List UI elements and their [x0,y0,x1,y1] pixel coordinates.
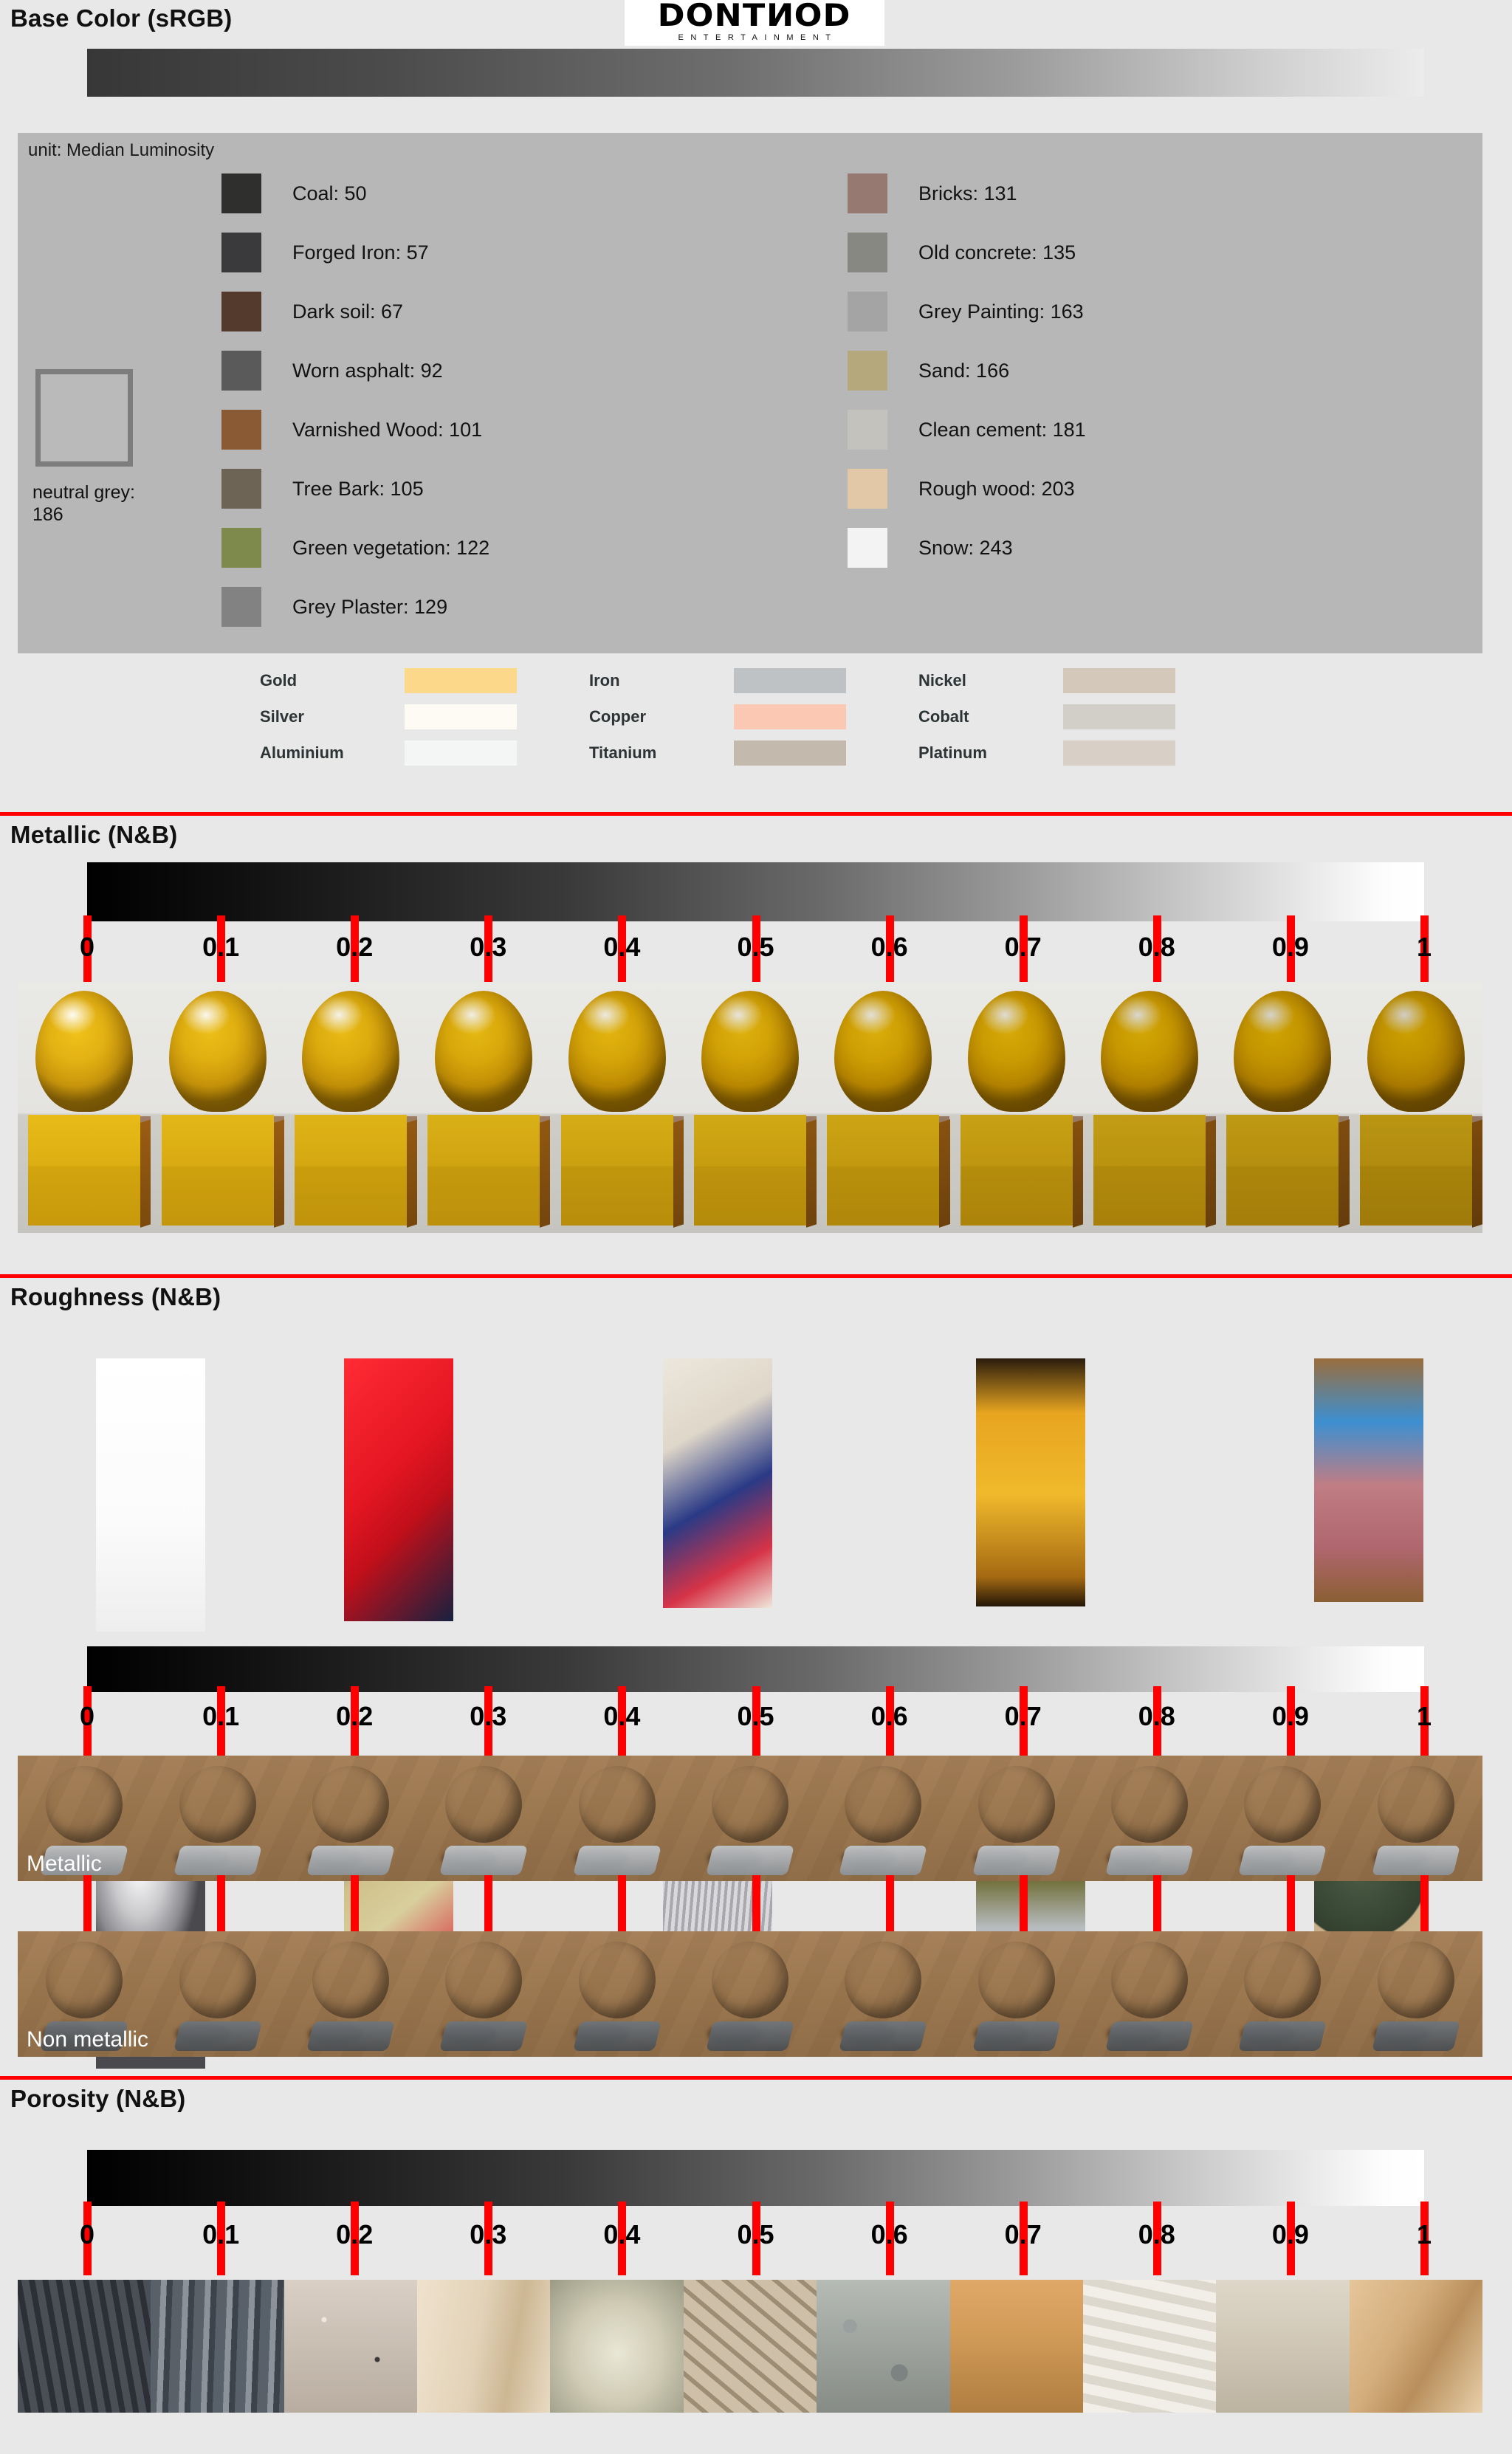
section-title-metallic: Metallic (N&B) [10,821,178,849]
base-color-swatch-row: Rough wood: 203 [848,459,1086,518]
base-color-swatch-label: Rough wood: 203 [918,478,1075,501]
metallic-sphere [968,991,1065,1112]
scale-tick-label: 0.9 [1272,932,1309,963]
scale-tick-label: 0.8 [1138,1701,1175,1732]
sphere-plate [306,1846,395,1875]
color-chip [848,410,887,450]
neutral-grey-swatch [35,369,133,467]
scale-tick [1020,1875,1028,1939]
base-color-swatch-label: Grey Painting: 163 [918,300,1084,323]
roughness-sphere [579,1942,656,2018]
scale-tick [752,1875,760,1939]
scale-tick-label: 1 [1417,932,1432,963]
base-color-swatch-row: Worn asphalt: 92 [221,341,489,400]
base-color-column-left: Coal: 50Forged Iron: 57Dark soil: 67Worn… [221,164,489,636]
metal-color-chip [405,668,517,693]
porosity-photo-white-sand-dune [1083,2280,1216,2413]
sphere-plate [1372,1846,1460,1875]
base-color-swatch-row: Coal: 50 [221,164,489,223]
scale-tick-label: 0.4 [603,1701,640,1732]
roughness-sphere [445,1942,522,2018]
roughness-sphere [445,1766,522,1843]
sphere-plate [1105,2021,1194,2051]
sphere-plate [439,2021,528,2051]
porosity-render-strip [18,2280,1482,2413]
roughness-nonmetallic-sample [1216,1931,1349,2057]
sphere-plate [1238,1846,1327,1875]
metal-color-chip [734,740,846,766]
metallic-sphere [169,991,267,1112]
base-color-swatch-row: Forged Iron: 57 [221,223,489,282]
metallic-sphere [701,991,799,1112]
metallic-cube [1093,1115,1206,1226]
metal-row: Platinum [918,740,1175,766]
section-title-base-color: Base Color (sRGB) [10,4,232,32]
scale-tick-label: 0.8 [1138,932,1175,963]
base-color-swatch-label: Worn asphalt: 92 [292,360,443,382]
roughness-metallic-sample [1216,1756,1349,1881]
metallic-cube [961,1115,1073,1226]
neutral-grey-value: 186 [32,504,63,525]
scale-tick-label: 0 [80,932,94,963]
roughness-sphere [46,1766,123,1843]
base-color-swatch-row: Varnished Wood: 101 [221,400,489,459]
scale-tick [618,1875,626,1939]
sphere-plate [1238,2021,1327,2051]
roughness-photo-eraser-on-desk [1314,1358,1423,1602]
scale-tick-label: 0.2 [336,1701,373,1732]
color-chip [848,351,887,391]
scale-tick-label: 0.7 [1005,1701,1042,1732]
metallic-cube [694,1115,806,1226]
scale-tick-label: 0.3 [470,1701,506,1732]
scale-tick [83,1875,92,1939]
metallic-sample-cell [950,982,1083,1233]
sphere-plate [306,2021,395,2051]
metallic-sample-cell [1083,982,1216,1233]
metallic-sphere [302,991,399,1112]
base-color-gradient-bar [87,49,1424,97]
base-color-swatch-label: Dark soil: 67 [292,300,403,323]
base-color-swatch-label: Bricks: 131 [918,182,1017,205]
metal-name: Silver [260,707,405,726]
porosity-gradient-bar [87,2150,1424,2206]
roughness-metallic-strip: Metallic [18,1756,1482,1881]
metallic-sample-cell [817,982,949,1233]
scale-tick [1153,1875,1161,1939]
scale-tick-label: 1 [1417,1701,1432,1732]
porosity-photo-smooth-beige-stone [1216,2280,1349,2413]
metallic-render-strip [18,982,1482,1233]
scale-tick [1420,1875,1429,1939]
roughness-photo-red-ribbon-bow [344,1358,453,1621]
metallic-sample-cell [417,982,550,1233]
scale-tick-label: 0.2 [336,2219,373,2250]
divider-roughness [0,1274,1512,1278]
strip-label-metallic: Metallic [27,1852,102,1877]
base-color-swatch-label: Sand: 166 [918,360,1009,382]
scale-tick-label: 0.5 [737,2219,774,2250]
porosity-photo-pale-limestone [417,2280,550,2413]
color-chip [221,351,261,391]
logo-tagline: ENTERTAINMENT [672,33,838,42]
roughness-metallic-sample [417,1756,550,1881]
metallic-sphere [834,991,932,1112]
metal-color-chip [734,704,846,729]
porosity-photo-cracked-dry-mud [684,2280,817,2413]
scale-tick-label: 0.9 [1272,2219,1309,2250]
metallic-sphere [35,991,133,1112]
metal-name: Iron [589,671,734,690]
scale-tick-label: 0.6 [871,2219,908,2250]
metallic-sample-cell [684,982,817,1233]
color-chip [848,528,887,568]
roughness-sphere [1244,1942,1321,2018]
metallic-sample-cell [1216,982,1349,1233]
scale-tick-label: 0.7 [1005,2219,1042,2250]
color-chip [221,233,261,272]
sphere-plate [439,1846,528,1875]
roughness-nonmetallic-sample [684,1931,817,2057]
scale-tick [484,1875,492,1939]
neutral-grey-label: neutral grey: 186 [32,481,165,526]
scale-tick-label: 0.8 [1138,2219,1175,2250]
roughness-sphere [312,1766,389,1843]
roughness-sphere [845,1942,921,2018]
metallic-sphere [435,991,532,1112]
base-color-swatch-label: Forged Iron: 57 [292,241,429,264]
sphere-plate [573,2021,661,2051]
scale-tick-label: 0.5 [737,932,774,963]
sphere-plate [1372,2021,1460,2051]
metal-color-chip [1063,704,1175,729]
metal-color-chip [405,740,517,766]
metallic-gradient-bar [87,862,1424,921]
metal-row: Nickel [918,668,1175,693]
metal-row: Titanium [589,740,846,766]
roughness-metallic-sample [817,1756,949,1881]
scale-tick [886,1875,894,1939]
metal-color-chip [1063,668,1175,693]
roughness-gradient-bar [87,1646,1424,1692]
scale-tick [1287,1875,1295,1939]
divider-porosity [0,2076,1512,2080]
roughness-sphere [712,1942,788,2018]
metal-row: Aluminium [260,740,517,766]
porosity-photo-stacked-stone-slabs [151,2280,283,2413]
porosity-photo-grey-gravel [817,2280,949,2413]
scale-tick-label: 0.3 [470,932,506,963]
metal-name: Titanium [589,743,734,763]
roughness-scale-ruler: 00.10.20.30.40.50.60.70.80.91 [0,1686,1512,1756]
scale-tick-label: 0.2 [336,932,373,963]
scale-tick-label: 1 [1417,2219,1432,2250]
roughness-sphere [712,1766,788,1843]
metallic-cube [561,1115,673,1226]
roughness-nonmetallic-sample [284,1931,417,2057]
porosity-photo-wooden-crate-corner [1350,2280,1482,2413]
section-title-roughness: Roughness (N&B) [10,1283,221,1311]
roughness-sphere [1111,1942,1188,2018]
metals-table: GoldIronNickelSilverCopperCobaltAluminiu… [260,668,1234,783]
roughness-sphere [978,1766,1055,1843]
scale-tick [217,1875,225,1939]
roughness-metallic-sample [550,1756,683,1881]
roughness-sphere [1244,1766,1321,1843]
color-chip [221,173,261,213]
metallic-sphere [1101,991,1198,1112]
roughness-sphere [1111,1766,1188,1843]
sphere-plate [173,2021,262,2051]
sphere-plate [573,1846,661,1875]
roughness-metallic-sample [1083,1756,1216,1881]
metallic-sphere [1367,991,1465,1112]
base-color-swatch-label: Grey Plaster: 129 [292,596,447,619]
color-chip [848,469,887,509]
scale-tick-label: 0.9 [1272,1701,1309,1732]
base-color-swatch-label: Tree Bark: 105 [292,478,424,501]
base-color-swatch-row: Clean cement: 181 [848,400,1086,459]
roughness-metallic-sample [1350,1756,1482,1881]
color-chip [221,292,261,331]
base-color-swatch-label: Varnished Wood: 101 [292,419,482,441]
base-color-swatch-row: Dark soil: 67 [221,282,489,341]
roughness-sphere [312,1942,389,2018]
section-title-porosity: Porosity (N&B) [10,2085,185,2113]
metallic-sample-cell [550,982,683,1233]
metal-name: Aluminium [260,743,405,763]
roughness-nonmetallic-sample [1083,1931,1216,2057]
metal-name: Gold [260,671,405,690]
metallic-cube [1360,1115,1472,1226]
porosity-photo-wet-clay-pottery [550,2280,683,2413]
metal-name: Copper [589,707,734,726]
metallic-sample-cell [18,982,151,1233]
roughness-metallic-sample [684,1756,817,1881]
sphere-plate [839,1846,927,1875]
base-color-swatch-label: Clean cement: 181 [918,419,1086,441]
roughness-nonmetallic-sample [550,1931,683,2057]
roughness-sphere [179,1766,256,1843]
color-chip [848,233,887,272]
scale-tick-label: 0 [80,2219,94,2250]
metal-color-chip [405,704,517,729]
neutral-grey-caption: neutral grey: [32,482,135,503]
porosity-photo-orange-sandstone [950,2280,1083,2413]
roughness-sphere [46,1942,123,2018]
roughness-nonmetallic-strip: Non metallic [18,1931,1482,2057]
metallic-scale-ruler: 00.10.20.30.40.50.60.70.80.91 [0,915,1512,986]
divider-metallic [0,812,1512,816]
base-color-swatch-row: Sand: 166 [848,341,1086,400]
roughness-photo-amber-glass-jar [976,1358,1085,1606]
base-color-swatch-row: Green vegetation: 122 [221,518,489,577]
metallic-sphere [568,991,666,1112]
sphere-plate [972,2021,1061,2051]
metal-row: Copper [589,704,846,729]
roughness-nonmetallic-sample [817,1931,949,2057]
roughness-sphere [1378,1766,1454,1843]
roughness-sphere [978,1942,1055,2018]
metal-row: Iron [589,668,846,693]
base-color-panel: unit: Median Luminosity neutral grey: 18… [18,133,1482,653]
dontnod-logo: DONTNOD ENTERTAINMENT [625,0,884,46]
roughness-photo-drinking-glass [96,1358,205,1632]
base-color-swatch-row: Snow: 243 [848,518,1086,577]
strip-label-non-metallic: Non metallic [27,2027,148,2052]
roughness-metallic-sample [950,1756,1083,1881]
color-chip [221,528,261,568]
scale-tick-label: 0.5 [737,1701,774,1732]
base-color-column-right: Bricks: 131Old concrete: 135Grey Paintin… [848,164,1086,577]
scale-tick-label: 0.4 [603,932,640,963]
sphere-plate [839,2021,927,2051]
metallic-cube [162,1115,274,1226]
roughness-photo-pens-on-notebook [663,1358,772,1608]
color-chip [221,410,261,450]
roughness-scale-ruler-2 [0,1875,1512,1939]
metal-row: Cobalt [918,704,1175,729]
metal-color-chip [1063,740,1175,766]
roughness-metallic-sample [151,1756,283,1881]
base-color-swatch-row: Grey Plaster: 129 [221,577,489,636]
scale-tick-label: 0.1 [202,932,239,963]
roughness-nonmetallic-sample [950,1931,1083,2057]
base-color-swatch-row: Old concrete: 135 [848,223,1086,282]
scale-tick-label: 0.6 [871,932,908,963]
porosity-photo-dark-cracked-slate [18,2280,151,2413]
metal-row: Gold [260,668,517,693]
metal-row: Silver [260,704,517,729]
color-chip [848,292,887,331]
sphere-plate [706,2021,794,2051]
scale-tick-label: 0.3 [470,2219,506,2250]
base-color-swatch-label: Old concrete: 135 [918,241,1076,264]
metallic-sample-cell [284,982,417,1233]
roughness-sphere [179,1942,256,2018]
color-chip [848,173,887,213]
roughness-nonmetallic-sample [151,1931,283,2057]
roughness-nonmetallic-sample [417,1931,550,2057]
scale-tick [351,1875,359,1939]
metallic-sample-cell [1350,982,1482,1233]
metallic-cube [295,1115,407,1226]
porosity-scale-ruler: 00.10.20.30.40.50.60.70.80.91 [0,2202,1512,2275]
metallic-cube [827,1115,939,1226]
base-color-swatch-label: Green vegetation: 122 [292,537,489,560]
roughness-sphere [1378,1942,1454,2018]
scale-tick-label: 0.1 [202,1701,239,1732]
porosity-photo-speckled-granite [284,2280,417,2413]
roughness-nonmetallic-sample [1350,1931,1482,2057]
base-color-swatch-row: Grey Painting: 163 [848,282,1086,341]
scale-tick-label: 0.1 [202,2219,239,2250]
metal-name: Nickel [918,671,1063,690]
metallic-cube [427,1115,540,1226]
roughness-reference-photos [0,1329,1512,1639]
base-color-swatch-label: Snow: 243 [918,537,1013,560]
sphere-plate [972,1846,1061,1875]
base-color-swatch-row: Tree Bark: 105 [221,459,489,518]
scale-tick-label: 0.6 [871,1701,908,1732]
unit-label: unit: Median Luminosity [28,140,214,161]
metallic-cube [28,1115,140,1226]
metal-name: Cobalt [918,707,1063,726]
base-color-swatch-row: Bricks: 131 [848,164,1086,223]
metal-color-chip [734,668,846,693]
metal-name: Platinum [918,743,1063,763]
roughness-sphere [579,1766,656,1843]
metallic-sphere [1234,991,1331,1112]
base-color-swatch-label: Coal: 50 [292,182,367,205]
logo-wordmark: DONTNOD [658,0,851,31]
color-chip [221,587,261,627]
sphere-plate [706,1846,794,1875]
metallic-cube [1226,1115,1339,1226]
color-chip [221,469,261,509]
metallic-sample-cell [151,982,283,1233]
roughness-metallic-sample [284,1756,417,1881]
scale-tick-label: 0.4 [603,2219,640,2250]
roughness-sphere [845,1766,921,1843]
scale-tick-label: 0.7 [1005,932,1042,963]
sphere-plate [1105,1846,1194,1875]
sphere-plate [173,1846,262,1875]
scale-tick-label: 0 [80,1701,94,1732]
